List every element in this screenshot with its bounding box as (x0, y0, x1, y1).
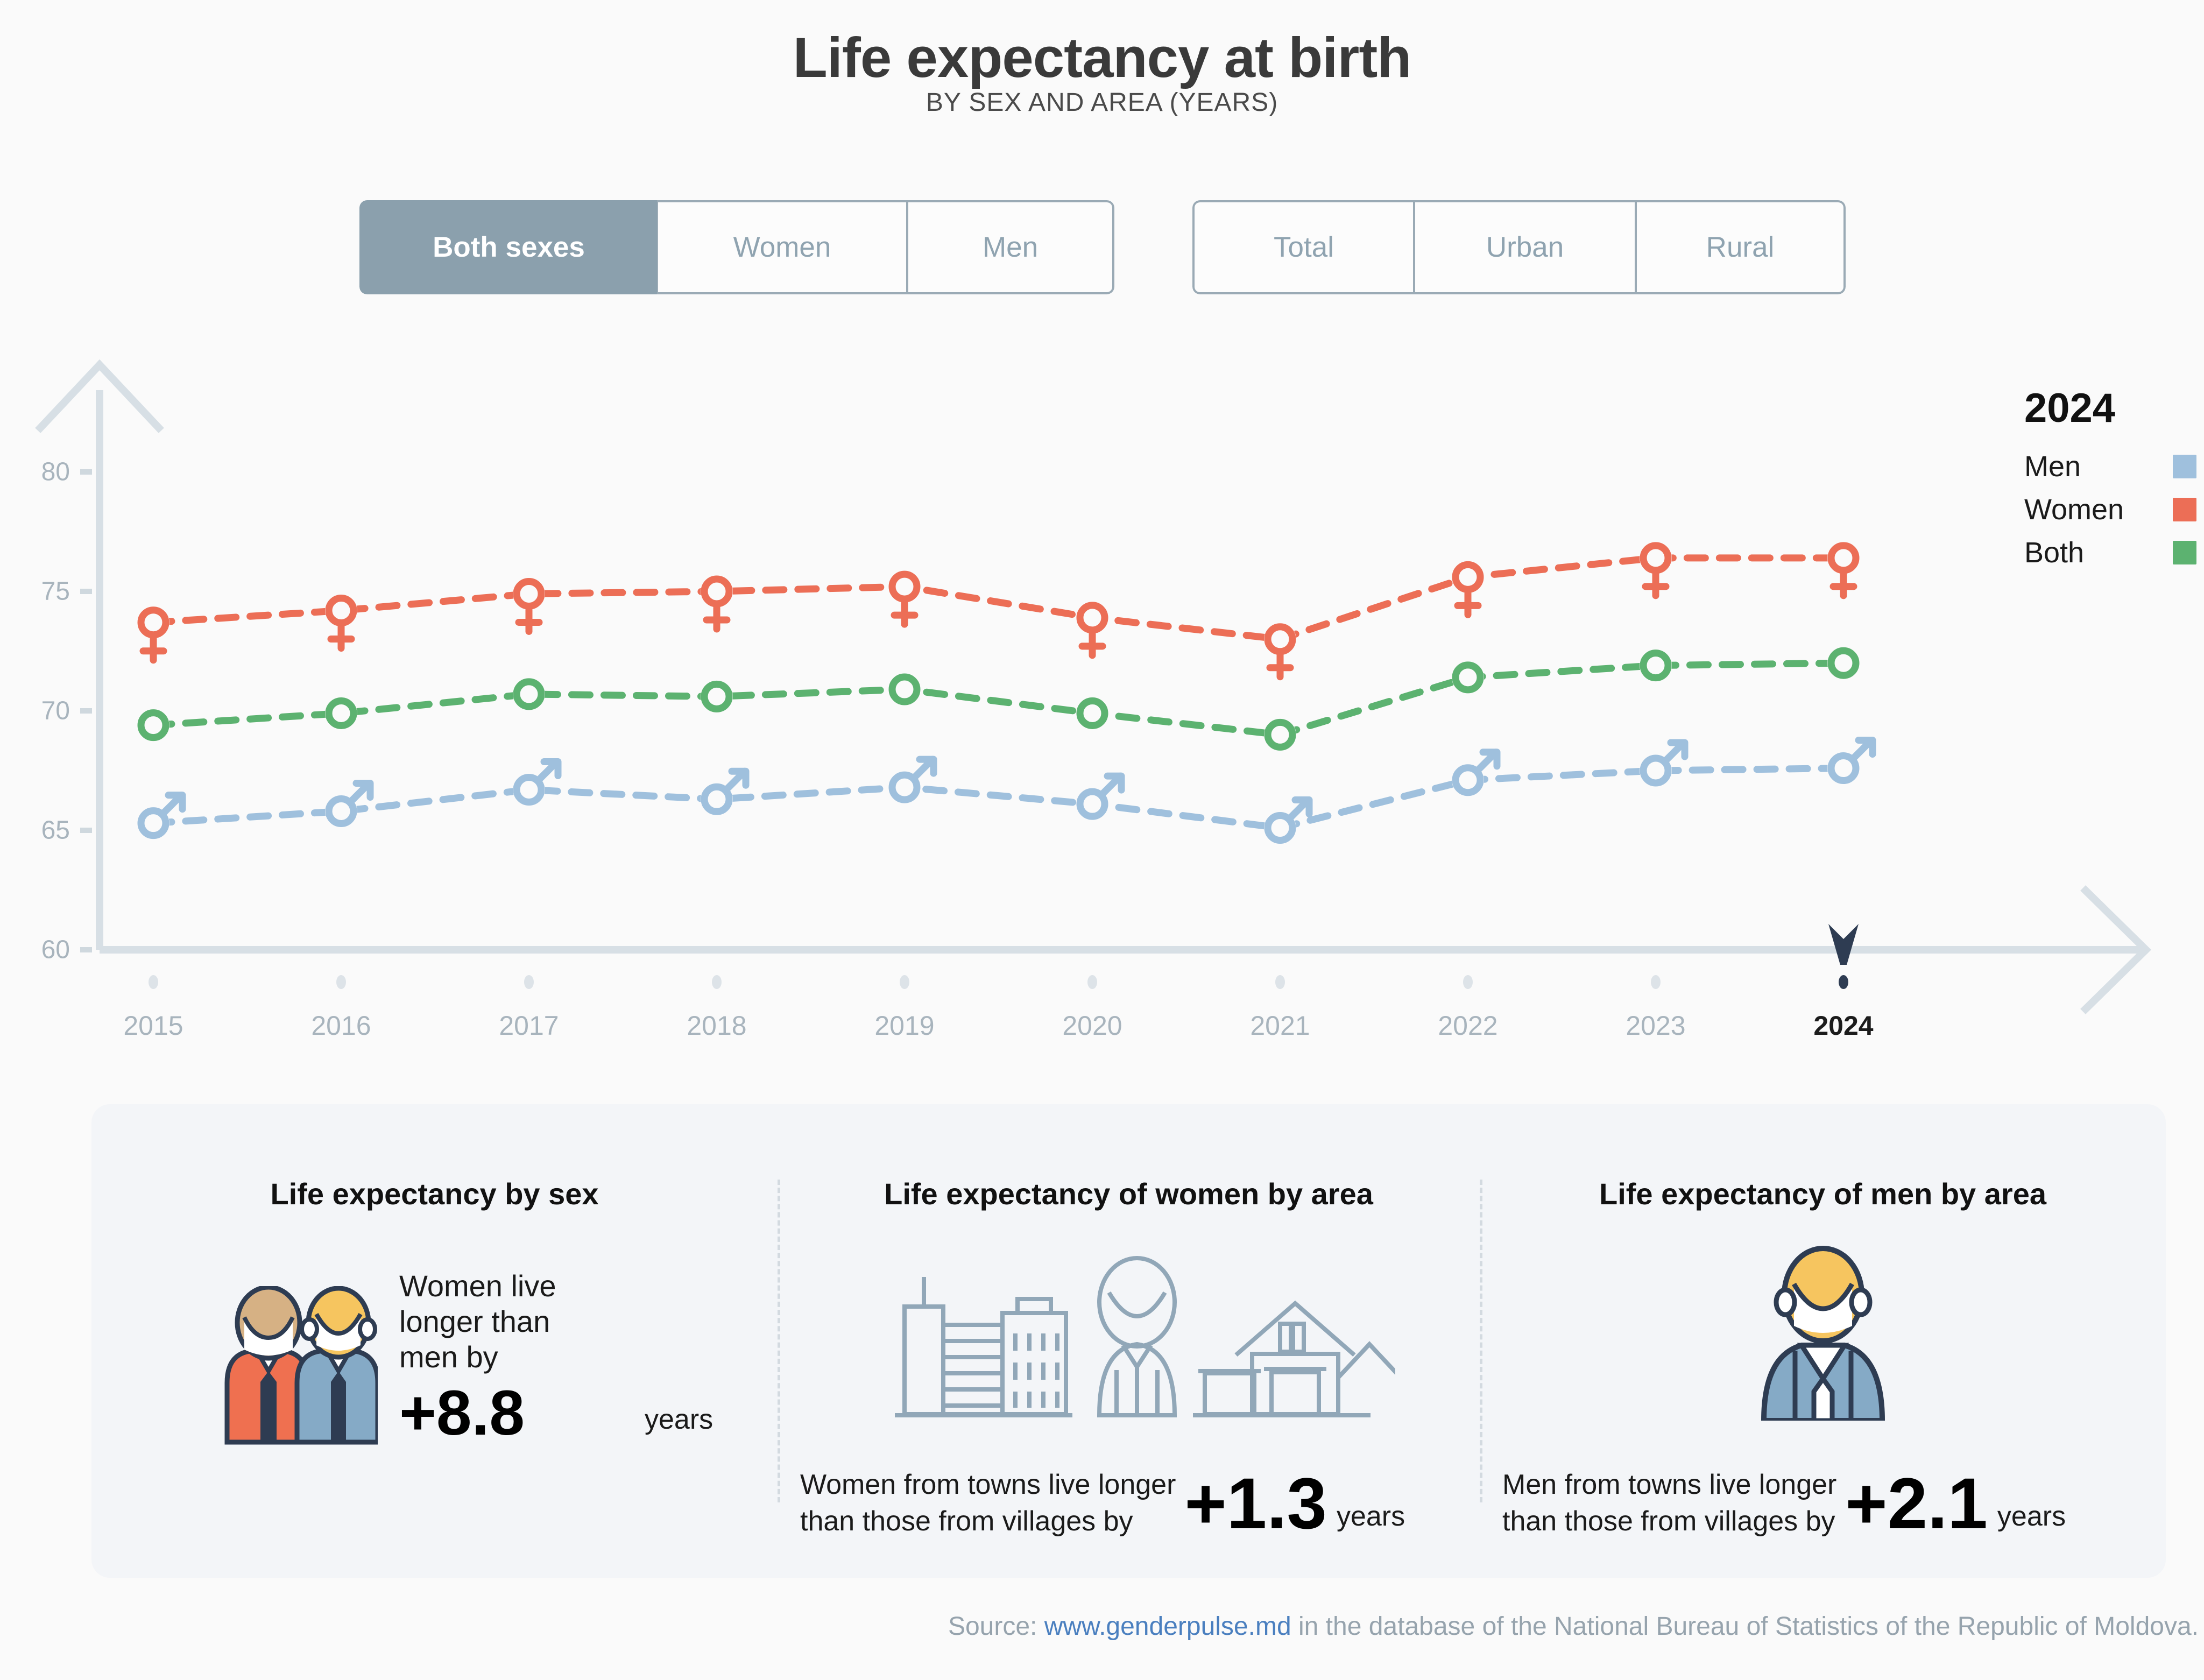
card-text-line-1: Women live (399, 1268, 556, 1304)
data-point-men[interactable] (1640, 743, 1685, 787)
data-point-women[interactable] (513, 577, 545, 631)
card-women-by-area-text: Women from towns live longer than those … (800, 1466, 1176, 1540)
source-suffix: in the database of the National Bureau o… (1291, 1612, 2199, 1641)
chart-canvas (0, 355, 2204, 1044)
page-title: Life expectancy at birth (0, 26, 2204, 90)
card-value-men-by-area: +2.1 (1845, 1468, 1988, 1540)
sex-filter-group[interactable]: Both sexes Women Men (359, 200, 1114, 294)
data-point-both[interactable] (888, 673, 921, 705)
city-woman-village-icon (778, 1243, 1480, 1421)
data-point-both[interactable] (137, 709, 169, 742)
data-point-women[interactable] (137, 606, 169, 660)
data-point-both[interactable] (701, 680, 733, 712)
card-title-men-by-area: Life expectancy of men by area (1480, 1176, 2166, 1211)
card-text-line-2: than those from villages by (1502, 1503, 1836, 1540)
x-tick-label-2017[interactable]: 2017 (448, 1010, 610, 1041)
data-point-both[interactable] (1827, 647, 1860, 679)
data-point-women[interactable] (701, 575, 733, 629)
legend-swatch-men (2173, 455, 2196, 478)
data-point-women[interactable] (1076, 602, 1108, 655)
data-point-men[interactable] (1452, 752, 1497, 796)
legend-item-both[interactable]: Both (2024, 536, 2196, 569)
legend-swatch-both (2173, 541, 2196, 564)
line-chart: 6065707580 20152016201720182019202020212… (0, 355, 2204, 1044)
card-title-women-by-area: Life expectancy of women by area (778, 1176, 1480, 1211)
data-point-women[interactable] (1640, 542, 1672, 596)
legend-item-men[interactable]: Men (2024, 450, 2196, 483)
card-women-by-area-footer: Women from towns live longer than those … (800, 1466, 1480, 1540)
woman-and-man-avatars-icon (211, 1286, 378, 1450)
area-filter-group[interactable]: Total Urban Rural (1192, 200, 1846, 294)
x-tick-label-2019[interactable]: 2019 (824, 1010, 985, 1041)
card-unit-men-by-area: years (1997, 1500, 2066, 1533)
x-tick-label-2015[interactable]: 2015 (73, 1010, 234, 1041)
legend-label-men: Men (2024, 450, 2081, 483)
card-men-by-area-footer: Men from towns live longer than those fr… (1502, 1466, 2166, 1540)
data-point-both[interactable] (1264, 718, 1296, 751)
legend-label-both: Both (2024, 536, 2084, 569)
data-point-men[interactable] (701, 771, 746, 815)
data-point-both[interactable] (1640, 650, 1672, 682)
x-tick-label-2020[interactable]: 2020 (1012, 1010, 1173, 1041)
legend-label-women: Women (2024, 493, 2124, 526)
legend-swatch-women (2173, 498, 2196, 521)
data-point-men[interactable] (1827, 740, 1873, 785)
sex-filter-men[interactable]: Men (907, 200, 1114, 294)
legend-item-women[interactable]: Women (2024, 493, 2196, 526)
card-unit-by-sex: years (645, 1403, 713, 1436)
card-value-by-sex: +8.8 (399, 1380, 556, 1447)
y-tick-label: 70 (11, 696, 70, 726)
y-tick-label: 80 (11, 457, 70, 487)
x-tick-label-2022[interactable]: 2022 (1387, 1010, 1549, 1041)
summary-card-men-by-area: Life expectancy of men by area Men from … (1480, 1104, 2166, 1578)
x-tick-label-2021[interactable]: 2021 (1199, 1010, 1361, 1041)
card-text-line-2: than those from villages by (800, 1503, 1176, 1540)
data-point-both[interactable] (513, 678, 545, 710)
area-filter-total[interactable]: Total (1192, 200, 1414, 294)
legend-year: 2024 (2024, 385, 2196, 432)
data-point-women[interactable] (888, 570, 921, 624)
sex-filter-both-sexes[interactable]: Both sexes (359, 200, 657, 294)
summary-card-by-sex: Life expectancy by sex (91, 1104, 778, 1578)
x-tick-label-2016[interactable]: 2016 (260, 1010, 422, 1041)
data-point-women[interactable] (325, 595, 357, 648)
card-by-sex-text: Women live longer than men by +8.8 (399, 1268, 556, 1447)
x-tick-label-2024[interactable]: 2024 (1763, 1010, 1924, 1041)
card-title-by-sex: Life expectancy by sex (91, 1176, 778, 1211)
area-filter-rural[interactable]: Rural (1636, 200, 1846, 294)
y-tick-label: 60 (11, 935, 70, 965)
data-point-women[interactable] (1452, 561, 1484, 615)
data-point-men[interactable] (513, 762, 558, 806)
source-prefix: Source: (948, 1612, 1044, 1641)
sex-filter-women[interactable]: Women (657, 200, 907, 294)
source-footer: Source: www.genderpulse.md in the databa… (0, 1612, 2199, 1641)
chart-legend: 2024 Men Women Both (2024, 385, 2196, 579)
page-subtitle: BY SEX AND AREA (YEARS) (0, 88, 2204, 117)
summary-panel: Life expectancy by sex (91, 1104, 2166, 1578)
data-point-men[interactable] (1264, 800, 1309, 844)
infographic-page: Life expectancy at birth BY SEX AND AREA… (0, 0, 2204, 1680)
data-point-both[interactable] (325, 697, 357, 729)
source-link[interactable]: www.genderpulse.md (1044, 1612, 1291, 1641)
summary-card-women-by-area: Life expectancy of women by area (778, 1104, 1480, 1578)
data-point-men[interactable] (137, 795, 182, 839)
card-men-by-area-text: Men from towns live longer than those fr… (1502, 1466, 1836, 1540)
data-point-women[interactable] (1264, 623, 1296, 677)
card-value-women-by-area: +1.3 (1184, 1468, 1327, 1540)
card-text-line-3: men by (399, 1339, 556, 1375)
x-tick-label-2023[interactable]: 2023 (1575, 1010, 1736, 1041)
area-filter-urban[interactable]: Urban (1414, 200, 1636, 294)
card-text-line-2: longer than (399, 1304, 556, 1339)
data-point-both[interactable] (1452, 661, 1484, 694)
man-avatar-icon (1480, 1243, 2166, 1421)
data-point-both[interactable] (1076, 697, 1108, 729)
card-text-line-1: Men from towns live longer (1502, 1466, 1836, 1503)
card-unit-women-by-area: years (1337, 1500, 1405, 1533)
y-tick-label: 75 (11, 577, 70, 606)
data-point-men[interactable] (1076, 776, 1121, 820)
data-point-women[interactable] (1827, 542, 1860, 596)
data-point-men[interactable] (888, 759, 934, 803)
y-tick-label: 65 (11, 816, 70, 845)
card-text-line-1: Women from towns live longer (800, 1466, 1176, 1503)
x-tick-label-2018[interactable]: 2018 (636, 1010, 797, 1041)
